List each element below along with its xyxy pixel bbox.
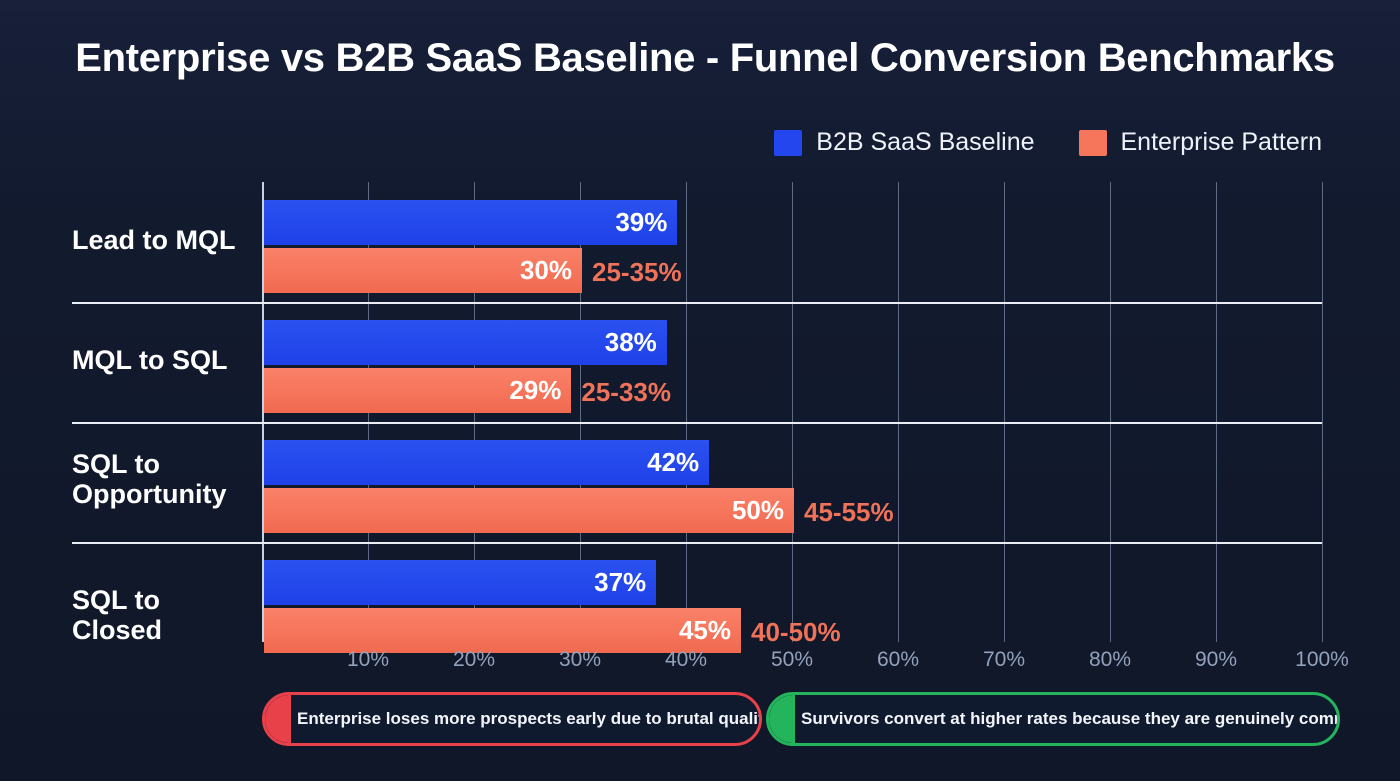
gridline bbox=[1110, 182, 1111, 642]
x-axis-tick: 30% bbox=[559, 648, 601, 672]
legend-item-enterprise[interactable]: Enterprise Pattern bbox=[1079, 128, 1323, 157]
bar-baseline[interactable]: 39% bbox=[264, 200, 677, 245]
gridline bbox=[1322, 182, 1323, 642]
x-axis-tick: 10% bbox=[347, 648, 389, 672]
x-axis-tick: 20% bbox=[453, 648, 495, 672]
x-axis-tick: 80% bbox=[1089, 648, 1131, 672]
range-label: 25-35% bbox=[592, 257, 682, 288]
callout-negative[interactable]: Enterprise loses more prospects early du… bbox=[262, 692, 762, 746]
gridline bbox=[686, 182, 687, 642]
category-label: SQL to Opportunity bbox=[72, 450, 257, 509]
bar-value-label: 29% bbox=[509, 375, 561, 406]
bar-value-label: 37% bbox=[594, 567, 646, 598]
callout-positive-text: Survivors convert at higher rates becaus… bbox=[795, 709, 1340, 729]
plot-area: 39%30%25-35%38%29%25-33%42%50%45-55%37%4… bbox=[262, 182, 1322, 642]
callout-cap-icon bbox=[769, 695, 795, 743]
x-axis-tick: 100% bbox=[1295, 648, 1349, 672]
legend-swatch-icon bbox=[774, 130, 802, 156]
range-label: 45-55% bbox=[804, 497, 894, 528]
chart-title: Enterprise vs B2B SaaS Baseline - Funnel… bbox=[70, 36, 1340, 81]
bar-value-label: 30% bbox=[520, 255, 572, 286]
legend-label: Enterprise Pattern bbox=[1121, 128, 1323, 157]
category-label: MQL to SQL bbox=[72, 346, 257, 376]
category-label: Lead to MQL bbox=[72, 226, 257, 256]
bar-baseline[interactable]: 42% bbox=[264, 440, 709, 485]
chart-legend: B2B SaaS Baseline Enterprise Pattern bbox=[774, 128, 1322, 157]
bar-value-label: 50% bbox=[732, 495, 784, 526]
callout-positive[interactable]: Survivors convert at higher rates becaus… bbox=[766, 692, 1340, 746]
bar-value-label: 45% bbox=[679, 615, 731, 646]
bar-value-label: 39% bbox=[615, 207, 667, 238]
bar-baseline[interactable]: 38% bbox=[264, 320, 667, 365]
legend-item-baseline[interactable]: B2B SaaS Baseline bbox=[774, 128, 1034, 157]
range-label: 25-33% bbox=[581, 377, 671, 408]
legend-swatch-icon bbox=[1079, 130, 1107, 156]
bar-baseline[interactable]: 37% bbox=[264, 560, 656, 605]
x-axis-tick: 90% bbox=[1195, 648, 1237, 672]
bar-value-label: 42% bbox=[647, 447, 699, 478]
x-axis-tick: 60% bbox=[877, 648, 919, 672]
group-separator bbox=[72, 422, 1322, 424]
callout-cap-icon bbox=[265, 695, 291, 743]
bar-enterprise[interactable]: 45% bbox=[264, 608, 741, 653]
bar-enterprise[interactable]: 29% bbox=[264, 368, 571, 413]
gridline bbox=[1216, 182, 1217, 642]
group-separator bbox=[72, 542, 1322, 544]
gridline bbox=[898, 182, 899, 642]
gridline bbox=[1004, 182, 1005, 642]
x-axis-tick: 50% bbox=[771, 648, 813, 672]
gridline bbox=[792, 182, 793, 642]
legend-label: B2B SaaS Baseline bbox=[816, 128, 1034, 157]
range-label: 40-50% bbox=[751, 617, 841, 648]
chart-canvas: Enterprise vs B2B SaaS Baseline - Funnel… bbox=[0, 0, 1400, 781]
x-axis-tick: 40% bbox=[665, 648, 707, 672]
group-separator bbox=[72, 302, 1322, 304]
bar-value-label: 38% bbox=[605, 327, 657, 358]
callout-negative-text: Enterprise loses more prospects early du… bbox=[291, 709, 762, 729]
bar-enterprise[interactable]: 30% bbox=[264, 248, 582, 293]
bar-enterprise[interactable]: 50% bbox=[264, 488, 794, 533]
category-label: SQL to Closed bbox=[72, 586, 257, 645]
x-axis-tick: 70% bbox=[983, 648, 1025, 672]
